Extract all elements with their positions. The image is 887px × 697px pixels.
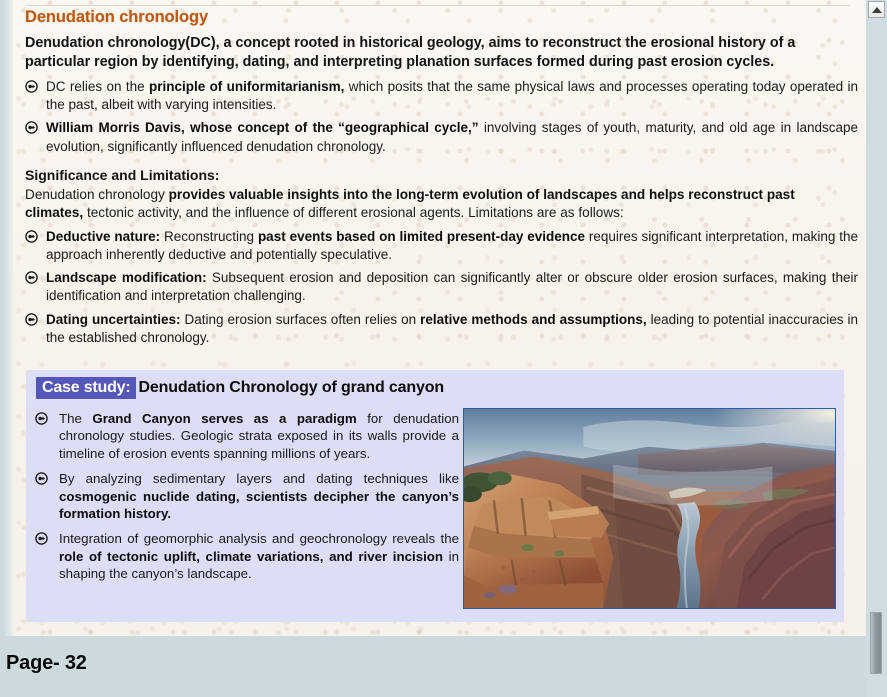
- list-item: Integration of geomorphic analysis and g…: [34, 530, 459, 582]
- list-item: Deductive nature: Reconstructing past ev…: [24, 228, 858, 264]
- list-item-text: DC relies on the principle of uniformita…: [46, 79, 858, 112]
- significance-heading: Significance and Limitations:: [25, 167, 858, 183]
- circled-arrow-bullet-icon: [25, 271, 38, 284]
- page-number-label: Page- 32: [6, 652, 87, 675]
- case-study-panel: Case study: Denudation Chronology of gra…: [26, 370, 844, 622]
- circled-arrow-bullet-icon: [25, 80, 38, 93]
- list-item-text: Landscape modification: Subsequent erosi…: [46, 270, 858, 303]
- list-item-text: The Grand Canyon serves as a paradigm fo…: [59, 411, 459, 461]
- circled-arrow-bullet-icon: [35, 472, 48, 485]
- document-viewer: Denudation chronology Denudation chronol…: [0, 0, 887, 697]
- case-study-title: Denudation Chronology of grand canyon: [139, 379, 445, 397]
- grand-canyon-photo: [463, 408, 836, 609]
- page-title: Denudation chronology: [25, 8, 858, 27]
- viewer-footer: Page- 32: [0, 636, 887, 697]
- circled-arrow-bullet-icon: [35, 532, 48, 545]
- slide-page: Denudation chronology Denudation chronol…: [4, 0, 866, 636]
- circled-arrow-bullet-icon: [25, 230, 38, 243]
- scroll-up-arrow-icon: [872, 7, 882, 13]
- list-item-text: By analyzing sedimentary layers and dati…: [59, 471, 459, 521]
- vertical-scrollbar[interactable]: [866, 0, 887, 697]
- list-item: The Grand Canyon serves as a paradigm fo…: [34, 410, 459, 462]
- case-study-body: The Grand Canyon serves as a paradigm fo…: [34, 410, 459, 591]
- case-study-header: Case study: Denudation Chronology of gra…: [36, 377, 444, 399]
- scroll-up-button[interactable]: [868, 1, 885, 18]
- significance-paragraph: Denudation chronology provides valuable …: [25, 186, 856, 223]
- intro-bullet-list: DC relies on the principle of uniformita…: [24, 78, 858, 156]
- slide-content: Denudation chronology Denudation chronol…: [24, 8, 858, 349]
- list-item: By analyzing sedimentary layers and dati…: [34, 470, 459, 522]
- status-badge: Case study:: [36, 377, 136, 399]
- list-item-text: Dating uncertainties: Dating erosion sur…: [46, 312, 858, 345]
- circled-arrow-bullet-icon: [25, 313, 38, 326]
- list-item: DC relies on the principle of uniformita…: [24, 78, 858, 114]
- scrollbar-thumb[interactable]: [870, 612, 882, 674]
- list-item-text: Integration of geomorphic analysis and g…: [59, 531, 459, 581]
- list-item: Landscape modification: Subsequent erosi…: [24, 269, 858, 305]
- circled-arrow-bullet-icon: [25, 121, 38, 134]
- limitations-bullet-list: Deductive nature: Reconstructing past ev…: [24, 228, 858, 347]
- circled-arrow-bullet-icon: [35, 412, 48, 425]
- case-study-bullet-list: The Grand Canyon serves as a paradigm fo…: [34, 410, 459, 583]
- list-item: Dating uncertainties: Dating erosion sur…: [24, 311, 858, 347]
- list-item-text: Deductive nature: Reconstructing past ev…: [46, 229, 858, 262]
- list-item: William Morris Davis, whose concept of t…: [24, 119, 858, 155]
- lede-paragraph: Denudation chronology(DC), a concept roo…: [25, 34, 856, 73]
- list-item-text: William Morris Davis, whose concept of t…: [46, 120, 858, 153]
